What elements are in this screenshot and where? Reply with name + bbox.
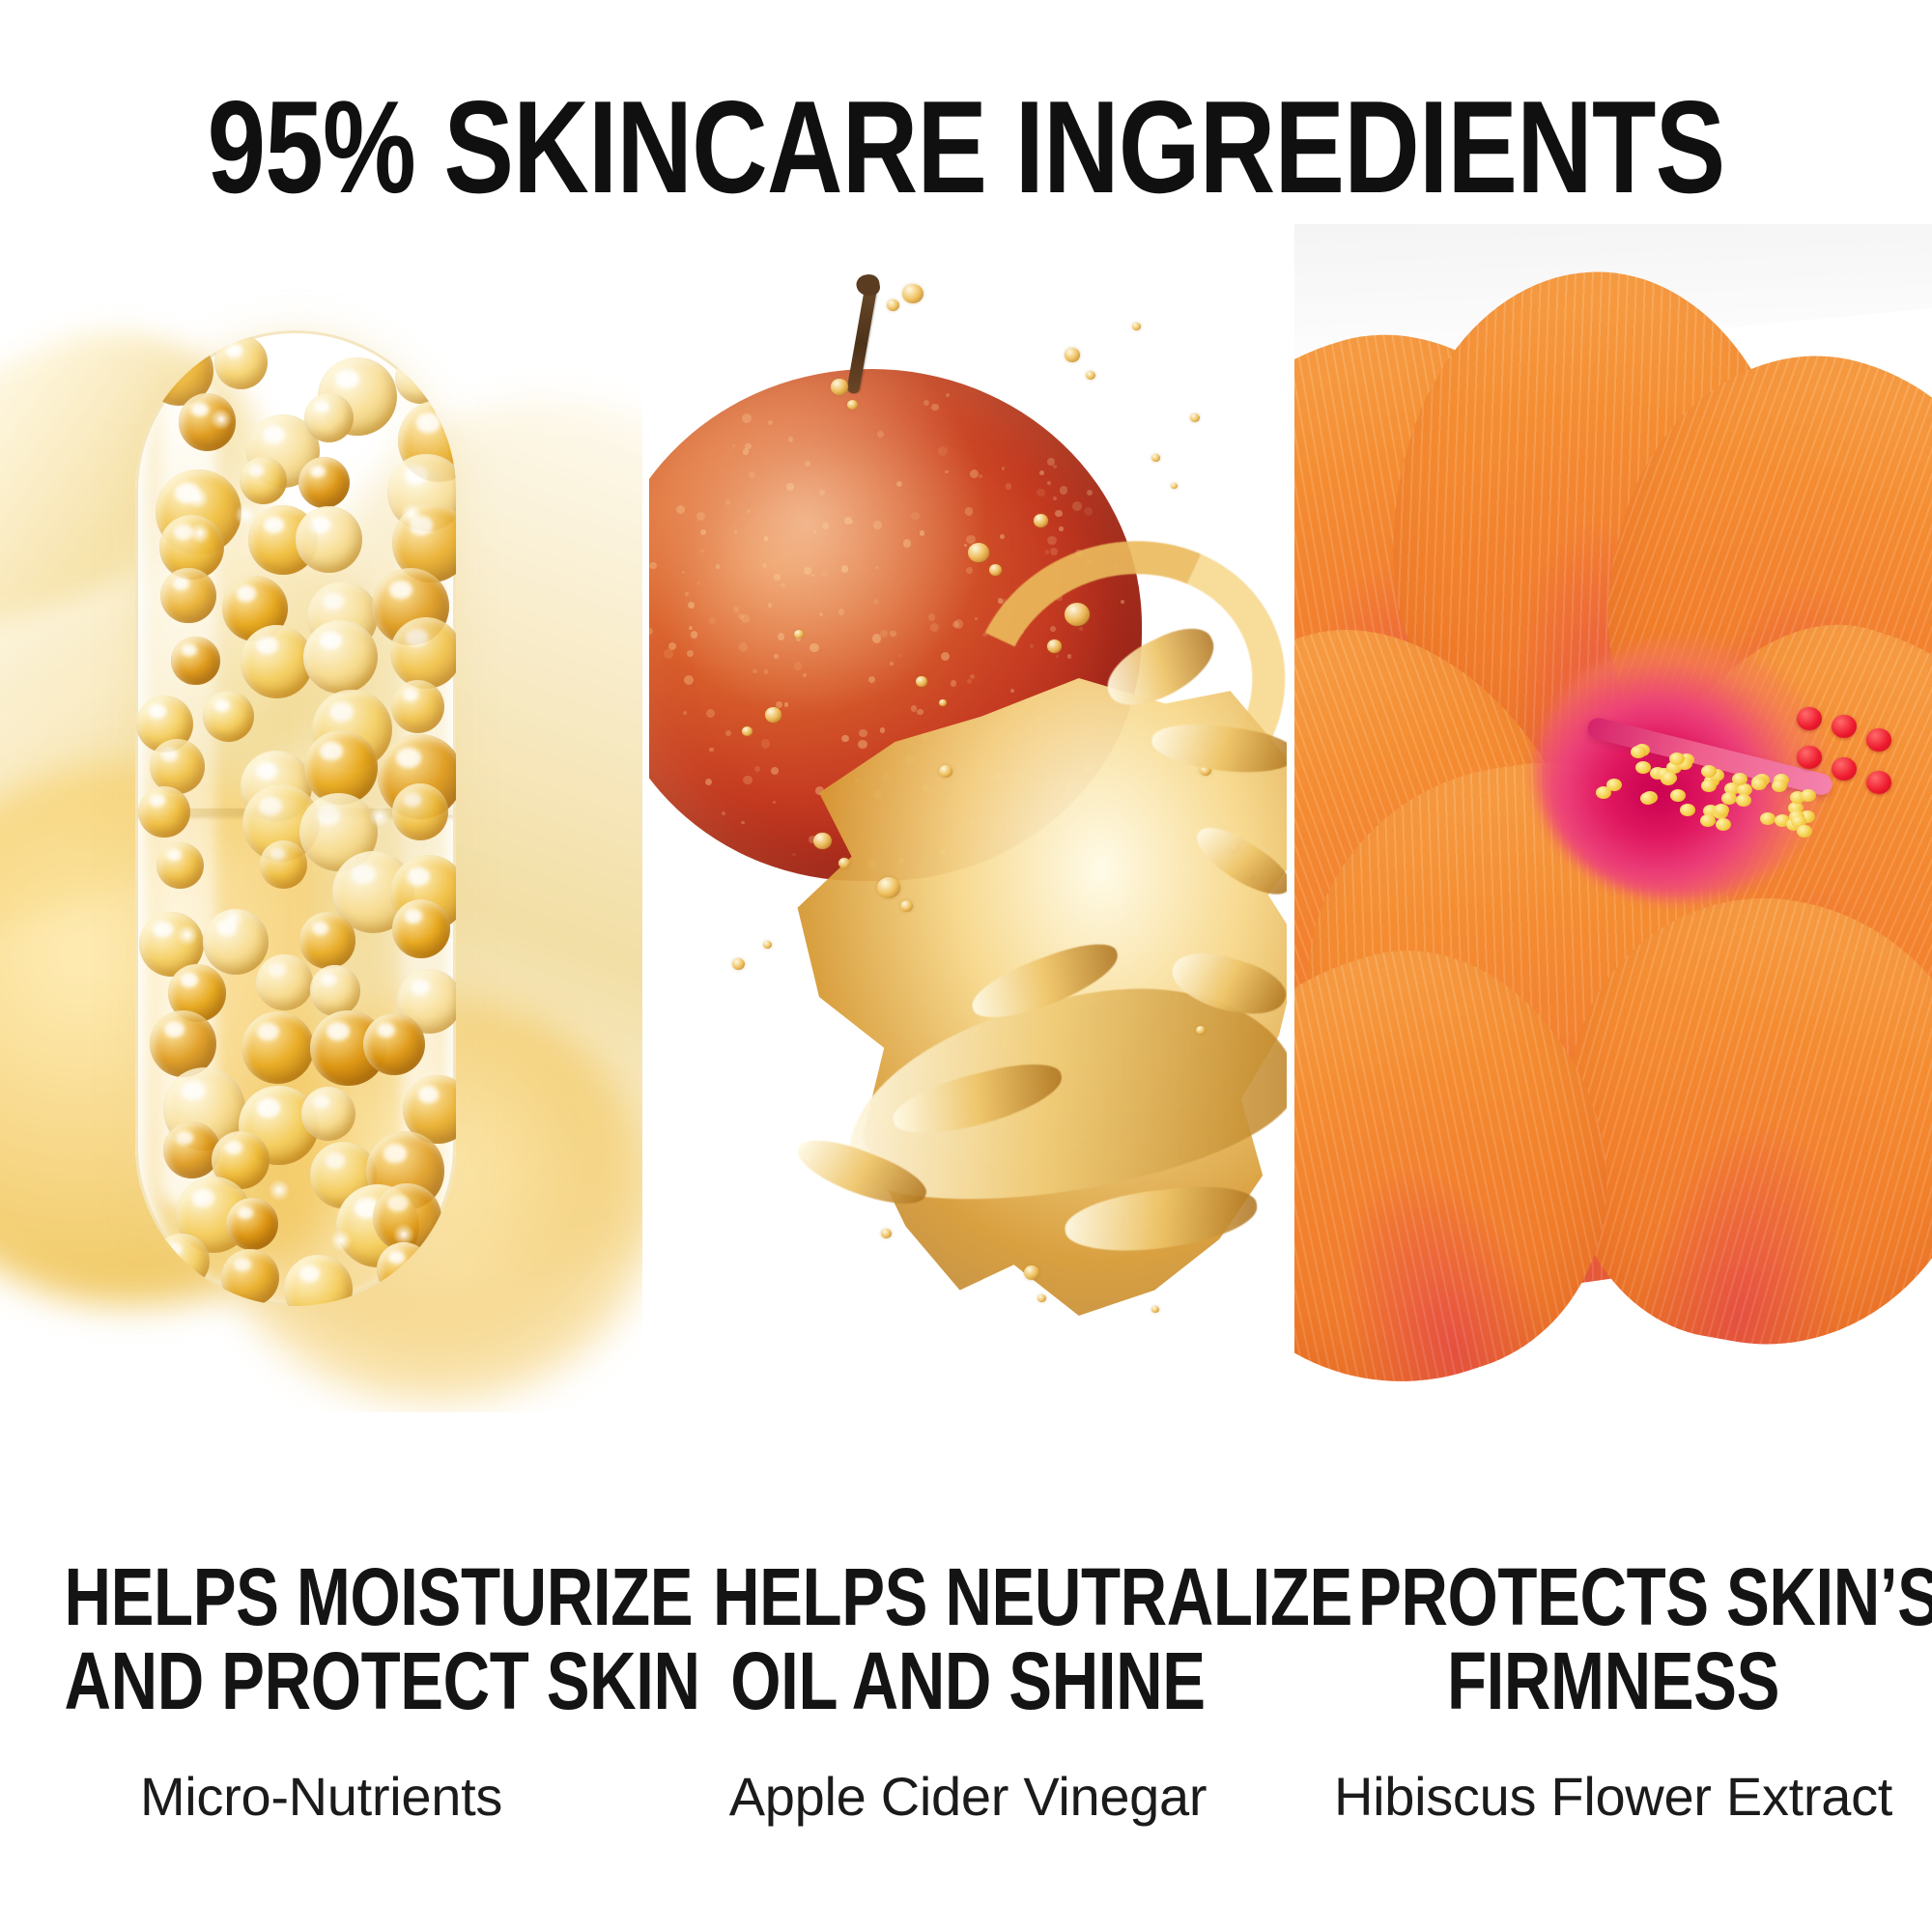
oil-bead-icon xyxy=(391,680,444,733)
apple-speck xyxy=(682,571,685,574)
apple-speck xyxy=(841,565,848,572)
apple-speck xyxy=(684,675,694,685)
vinegar-droplet-icon xyxy=(1037,1294,1046,1302)
oil-bead-icon xyxy=(240,457,287,504)
apple-speck xyxy=(786,483,794,491)
ingredient-image-micro-nutrients xyxy=(0,224,642,1412)
apple-speck xyxy=(749,471,755,478)
apple-speck xyxy=(739,642,749,652)
oil-bead-icon xyxy=(156,842,204,890)
hibiscus-anther-icon xyxy=(1714,804,1729,816)
apple-speck xyxy=(764,536,768,540)
hibiscus-stigma-icon xyxy=(1797,746,1822,769)
vinegar-droplet-icon xyxy=(831,379,848,395)
apple-speck xyxy=(1037,489,1045,497)
apple-speck xyxy=(931,404,938,411)
apple-speck xyxy=(691,631,698,639)
apple-speck xyxy=(676,505,685,514)
oil-bead-icon xyxy=(260,840,307,888)
oil-bead-icon xyxy=(138,786,190,838)
apple-speck xyxy=(970,469,979,478)
apple-speck xyxy=(1060,486,1067,494)
vinegar-droplet-icon xyxy=(989,564,1002,576)
apple-speck xyxy=(696,582,700,585)
oil-bead-icon xyxy=(226,1198,278,1250)
ingredient-name: Apple Cider Vinegar xyxy=(649,1767,1287,1827)
apple-speck xyxy=(859,729,867,738)
apple-speck xyxy=(938,446,948,456)
hibiscus-anther-icon xyxy=(1736,794,1751,807)
apple-speck xyxy=(923,400,930,407)
apple-speck xyxy=(743,776,752,784)
apple-speck xyxy=(1047,536,1056,545)
apple-speck xyxy=(822,523,829,529)
vinegar-droplet-icon xyxy=(1024,1265,1039,1280)
caption-title-line2: OIL AND SHINE xyxy=(713,1639,1223,1723)
caption-title-line1: HELPS NEUTRALIZE xyxy=(713,1555,1223,1639)
oil-bead-icon xyxy=(241,625,314,698)
apple-speck xyxy=(668,642,676,650)
caption-title-line1: PROTECTS SKIN’S xyxy=(1358,1555,1868,1639)
oil-bead-icon xyxy=(214,335,269,389)
hibiscus-anther-icon xyxy=(1701,765,1717,778)
oil-bead-icon xyxy=(163,1122,220,1179)
oil-bead-icon xyxy=(256,954,313,1011)
oil-bead-icon xyxy=(392,899,450,957)
vinegar-droplet-icon xyxy=(900,900,913,912)
oil-bead-icon xyxy=(221,1249,279,1307)
ingredients-poster: 95% SKINCARE INGREDIENTS xyxy=(0,0,1932,1932)
apple-speck xyxy=(725,730,731,736)
apple-speck xyxy=(868,676,875,683)
oil-bead-icon xyxy=(390,617,456,689)
ingredient-captions: HELPS MOISTURIZE AND PROTECT SKIN Micro-… xyxy=(0,1555,1932,1874)
vinegar-droplet-icon xyxy=(887,299,899,311)
apple-speck xyxy=(774,574,781,581)
apple-speck xyxy=(873,521,882,529)
apple-speck xyxy=(700,550,703,553)
apple-speck xyxy=(890,662,894,666)
apple-speck xyxy=(873,599,879,605)
apple-speck xyxy=(880,727,885,732)
hibiscus-anther-icon xyxy=(1772,780,1787,792)
apple-speck xyxy=(928,613,936,621)
apple-speck xyxy=(788,437,794,442)
vinegar-droplet-icon xyxy=(765,707,781,723)
vinegar-droplet-icon xyxy=(1047,639,1062,653)
apple-speck xyxy=(966,567,973,574)
caption-micro-nutrients: HELPS MOISTURIZE AND PROTECT SKIN Micro-… xyxy=(0,1555,642,1827)
apple-speck xyxy=(771,767,779,775)
vinegar-droplet-icon xyxy=(1132,323,1141,330)
apple-speck xyxy=(1055,510,1062,517)
apple-speck xyxy=(722,811,725,815)
apple-speck xyxy=(768,420,773,425)
vinegar-droplet-icon xyxy=(1065,603,1090,626)
ingredient-image-hibiscus-flower-extract xyxy=(1294,224,1932,1412)
oil-bead-icon xyxy=(171,637,219,685)
apple-speck xyxy=(838,609,844,614)
apple-speck xyxy=(890,631,895,637)
apple-speck xyxy=(778,633,784,639)
apple-speck xyxy=(804,567,810,574)
oil-bead-icon xyxy=(392,783,449,840)
oil-bead-icon xyxy=(296,506,361,572)
apple-speck xyxy=(762,563,767,568)
apple-speck xyxy=(1053,497,1057,500)
apple-speck xyxy=(725,499,730,504)
apple-speck xyxy=(734,530,737,533)
ingredient-image-panels xyxy=(0,224,1932,1412)
apple-speck xyxy=(917,709,923,716)
apple-speck xyxy=(811,574,814,577)
apple-speck xyxy=(732,444,735,447)
oil-bead-icon xyxy=(310,965,361,1016)
apple-speck xyxy=(747,509,751,513)
oil-bead-icon xyxy=(298,457,350,508)
apple-speck xyxy=(649,628,653,635)
apple-speck xyxy=(805,461,810,467)
apple-speck xyxy=(709,748,714,753)
apple-speck xyxy=(1072,501,1082,511)
hibiscus-anther-icon xyxy=(1669,753,1685,765)
vinegar-droplet-icon xyxy=(902,284,923,303)
apple-speck xyxy=(649,562,657,570)
apple-speck xyxy=(946,393,950,397)
apple-speck xyxy=(1050,548,1058,555)
hibiscus-scene xyxy=(1294,224,1932,1412)
oil-bead-icon xyxy=(304,393,354,442)
vinegar-droplet-icon xyxy=(838,858,850,868)
hibiscus-anther-icon xyxy=(1606,779,1622,791)
oil-bead-icon xyxy=(160,568,215,623)
apple-speck xyxy=(813,530,816,533)
caption-apple-cider-vinegar: HELPS NEUTRALIZE OIL AND SHINE Apple Cid… xyxy=(649,1555,1287,1827)
sparkle-icon xyxy=(367,804,392,829)
oil-bead-icon xyxy=(301,1087,355,1141)
apple-speck xyxy=(1000,534,1005,539)
apple-speck xyxy=(773,801,776,804)
hibiscus-anther-icon xyxy=(1721,792,1737,805)
apple-speck xyxy=(954,619,964,629)
apple-speck xyxy=(761,739,771,749)
hibiscus-stigma-icon xyxy=(1832,757,1857,781)
apple-speck xyxy=(743,448,749,454)
caption-hibiscus-flower-extract: PROTECTS SKIN’S FIRMNESS Hibiscus Flower… xyxy=(1294,1555,1932,1827)
apple-speck xyxy=(687,650,694,657)
vinegar-droplet-icon xyxy=(732,958,745,970)
oil-bead-icon xyxy=(377,1242,431,1296)
apple-speck xyxy=(774,654,779,659)
vinegar-droplet-icon xyxy=(1086,371,1095,380)
sparkle-icon xyxy=(391,1222,416,1247)
apple-speck xyxy=(683,711,687,715)
apple-speck xyxy=(877,431,884,438)
apple-speck xyxy=(700,529,706,535)
apple-speck xyxy=(753,669,756,673)
apple-speck xyxy=(688,602,695,609)
hibiscus-anther-icon xyxy=(1635,761,1651,774)
hibiscus-anther-icon xyxy=(1732,773,1747,785)
vinegar-droplet-icon xyxy=(1190,413,1200,422)
hibiscus-anther-icon xyxy=(1760,812,1776,825)
sparkle-icon xyxy=(267,1178,292,1203)
sparkle-icon xyxy=(209,407,234,432)
hibiscus-anther-icon xyxy=(1631,746,1646,758)
hibiscus-anther-icon xyxy=(1662,772,1677,784)
apple-speck xyxy=(768,603,773,608)
oil-bead-icon xyxy=(303,620,378,695)
apple-splash-scene xyxy=(649,224,1287,1412)
vinegar-droplet-icon xyxy=(1034,514,1048,527)
apple-speck xyxy=(1039,470,1044,475)
apple-speck xyxy=(1002,467,1005,469)
apple-speck xyxy=(709,617,716,624)
apple-speck xyxy=(810,643,818,652)
vinegar-droplet-icon xyxy=(1151,454,1160,462)
apple-speck xyxy=(841,735,848,742)
sparkle-icon xyxy=(399,501,424,526)
oil-bead-icon xyxy=(363,1013,425,1075)
hibiscus-stigma-icon xyxy=(1797,707,1822,730)
apple-speck xyxy=(705,779,713,786)
apple-speck xyxy=(858,740,867,749)
apple-speck xyxy=(1084,507,1093,516)
sparkle-icon xyxy=(185,486,211,511)
vinegar-droplet-icon xyxy=(881,1229,892,1238)
hibiscus-anther-icon xyxy=(1670,789,1686,802)
apple-speck xyxy=(965,507,974,516)
vinegar-droplet-icon xyxy=(939,765,952,778)
vinegar-droplet-icon xyxy=(916,676,927,687)
sparkle-icon xyxy=(328,1228,354,1253)
apple-speck xyxy=(951,680,957,687)
vinegar-droplet-icon xyxy=(1065,348,1080,362)
apple-speck xyxy=(930,623,939,632)
apple-speck xyxy=(696,512,706,522)
capsule-scene xyxy=(0,224,642,1412)
apple-speck xyxy=(754,766,761,773)
apple-speck xyxy=(819,490,825,496)
page-title: 95% SKINCARE INGREDIENTS xyxy=(193,81,1739,213)
hibiscus-stigma-icon xyxy=(1832,715,1857,738)
oil-bead-icon xyxy=(284,1255,353,1306)
apple-speck xyxy=(1047,481,1051,485)
vinegar-droplet-icon xyxy=(742,726,753,736)
oil-bead-icon xyxy=(241,1011,314,1084)
apple-speck xyxy=(875,566,879,570)
apple-speck xyxy=(716,564,720,568)
apple-speck xyxy=(792,853,796,857)
oil-bead-icon xyxy=(395,354,445,404)
apple-speck xyxy=(975,617,978,620)
apple-speck xyxy=(850,521,854,525)
apple-speck xyxy=(741,821,745,825)
caption-title-line1: HELPS MOISTURIZE xyxy=(65,1555,579,1639)
apple-speck xyxy=(1047,458,1055,466)
apple-speck xyxy=(898,654,901,657)
ingredient-name: Micro-Nutrients xyxy=(0,1767,642,1827)
apple-speck xyxy=(822,571,828,577)
apple-speck xyxy=(803,673,807,677)
apple-speck xyxy=(664,649,673,659)
apple-speck xyxy=(1059,526,1063,530)
apple-speck xyxy=(742,413,752,423)
apple-speck xyxy=(689,626,693,630)
oil-bead-icon xyxy=(154,1234,210,1290)
vinegar-droplet-icon xyxy=(763,941,772,949)
apple-speck xyxy=(764,669,768,673)
apple-speck xyxy=(819,612,823,616)
apple-speck xyxy=(1006,483,1011,489)
apple-speck xyxy=(903,539,911,547)
apple-speck xyxy=(1087,490,1094,497)
sparkle-icon xyxy=(187,521,213,546)
oil-bead-icon xyxy=(299,912,356,969)
sparkle-icon xyxy=(233,502,258,527)
vinegar-droplet-icon xyxy=(847,400,858,410)
apple-speck xyxy=(794,662,803,670)
apple-speck xyxy=(979,474,982,478)
capsule-icon xyxy=(135,330,456,1306)
apple-speck xyxy=(920,530,924,535)
ingredient-image-apple-cider-vinegar xyxy=(649,224,1287,1412)
sparkle-icon xyxy=(175,923,200,948)
apple-speck xyxy=(781,582,785,587)
vinegar-droplet-icon xyxy=(877,877,900,898)
apple-speck xyxy=(941,652,950,661)
apple-speck xyxy=(1053,465,1058,469)
apple-speck xyxy=(733,607,739,612)
oil-bead-icon xyxy=(203,691,254,742)
vinegar-droplet-icon xyxy=(1171,483,1178,489)
apple-speck xyxy=(706,709,715,718)
hibiscus-stigma-icon xyxy=(1866,771,1891,794)
ingredient-name: Hibiscus Flower Extract xyxy=(1294,1767,1932,1827)
sparkle-icon xyxy=(220,906,245,931)
apple-speck xyxy=(1045,550,1049,554)
apple-speck xyxy=(945,470,948,473)
caption-title-line2: FIRMNESS xyxy=(1358,1639,1868,1723)
vinegar-droplet-icon xyxy=(1151,1306,1159,1313)
hibiscus-stigma-icon xyxy=(1866,728,1891,752)
apple-speck xyxy=(964,544,968,548)
apple-speck xyxy=(685,592,689,596)
caption-title-line2: AND PROTECT SKIN xyxy=(65,1639,579,1723)
apple-speck xyxy=(784,702,789,707)
apple-speck xyxy=(880,630,888,638)
apple-speck xyxy=(896,481,902,487)
apple-speck xyxy=(911,512,919,520)
